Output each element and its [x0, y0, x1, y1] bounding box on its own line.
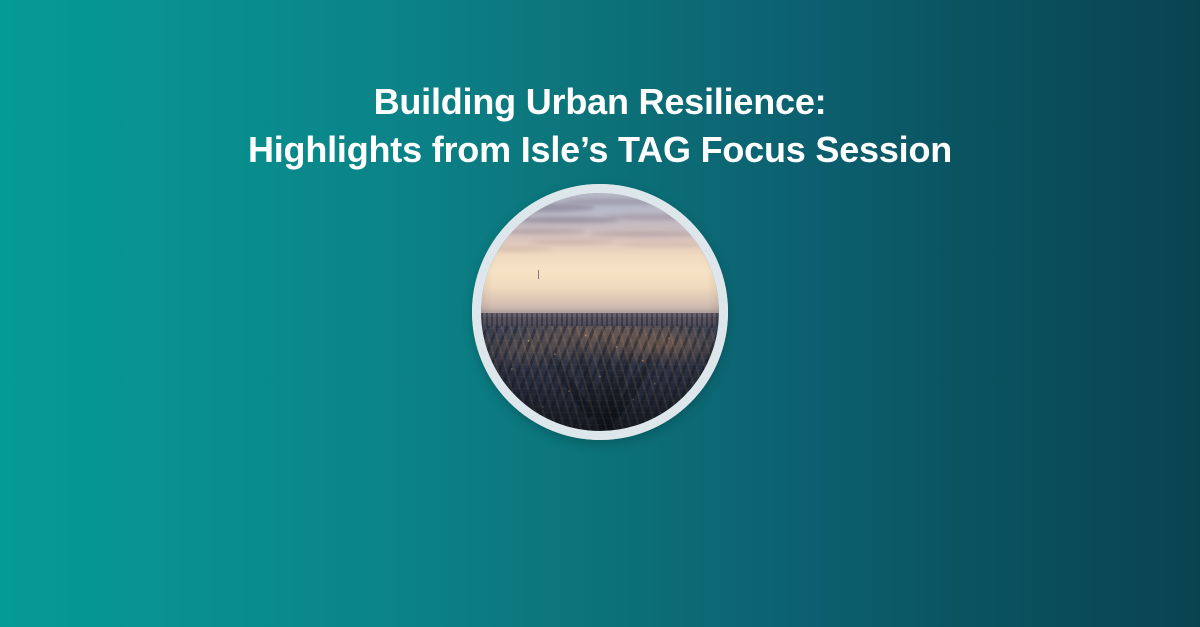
hero-image-medallion: [472, 184, 728, 440]
banner: Building Urban Resilience: Highlights fr…: [0, 0, 1200, 627]
eiffel-tower-spire-icon: [538, 270, 540, 278]
photo-vignette: [481, 193, 719, 431]
cityscape-photo-inner: [481, 193, 719, 431]
cityscape-photo: [481, 193, 719, 431]
page-title: Building Urban Resilience: Highlights fr…: [0, 78, 1200, 174]
page-title-line-1: Building Urban Resilience:: [0, 78, 1200, 126]
page-title-line-2: Highlights from Isle’s TAG Focus Session: [0, 126, 1200, 174]
